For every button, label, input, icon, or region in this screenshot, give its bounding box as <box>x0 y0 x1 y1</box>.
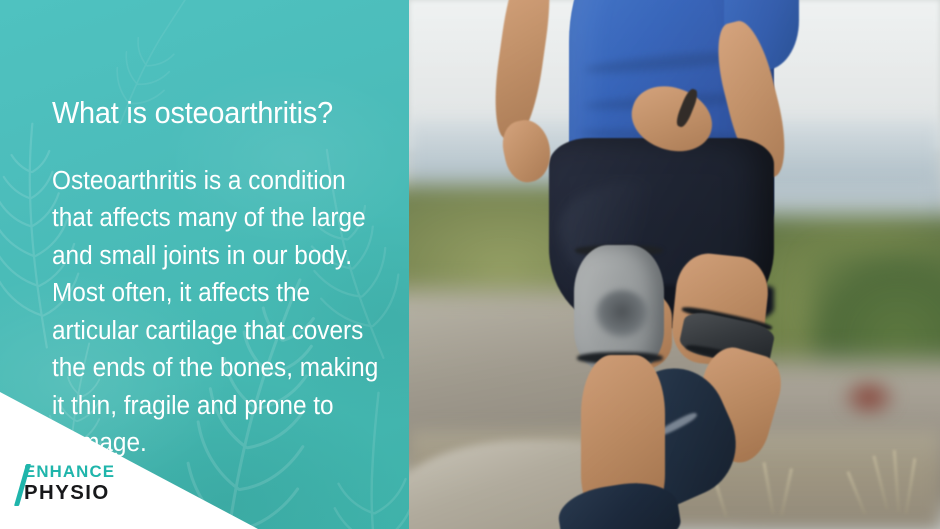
photo-vegetation-dark <box>809 250 940 430</box>
grass-tuft <box>780 468 793 516</box>
photo-rock-mid <box>409 290 719 470</box>
shorts-fold <box>550 170 682 290</box>
shorts-hem <box>624 285 774 327</box>
photo-sky <box>409 0 940 150</box>
left-teal-panel: What is osteoarthritis? Osteoarthritis i… <box>0 0 409 529</box>
body-paragraph: Osteoarthritis is a condition that affec… <box>52 163 381 463</box>
runner-right-thigh <box>669 250 772 369</box>
photo-vegetation-left <box>409 185 669 375</box>
runner-left-arm <box>488 0 558 142</box>
shirt-fold <box>584 47 765 77</box>
knee-brace-edge <box>577 352 663 364</box>
shirt-fold <box>584 90 764 112</box>
knee-brace-edge <box>575 245 663 256</box>
runner-right-hand <box>623 77 720 161</box>
runner-right-sleeve <box>724 0 799 70</box>
photo-rock-right <box>739 360 940 510</box>
runner-knee-strap <box>678 309 777 369</box>
slide-canvas: What is osteoarthritis? Osteoarthritis i… <box>0 0 940 529</box>
grass-tuft <box>713 478 728 517</box>
knee-brace-patch <box>595 290 649 338</box>
shirt-fold <box>574 159 739 182</box>
runner-left-calf <box>581 355 665 520</box>
right-shoe-sole <box>579 363 665 488</box>
shirt-fold <box>579 127 754 145</box>
page-title: What is osteoarthritis? <box>52 95 368 131</box>
right-shoe-laces <box>658 411 699 438</box>
runner-left-shoe <box>555 476 683 529</box>
runner-right-calf <box>683 341 788 468</box>
left-shoe-sole <box>558 516 679 529</box>
grass-tuft <box>893 450 900 512</box>
photo-rock-foreground <box>409 440 669 529</box>
knee-strap-edge <box>685 343 777 371</box>
runner-right-shoe <box>586 352 753 522</box>
knee-strap-edge <box>681 305 773 333</box>
runner-right-arm <box>708 16 795 183</box>
photo-red-foliage <box>839 375 899 420</box>
photo-sea-far <box>639 180 940 310</box>
logo-text-enhance: ENHANCE <box>24 464 115 481</box>
runner-shorts <box>549 138 774 328</box>
photo-sea <box>409 120 940 240</box>
runner-photo <box>409 0 940 529</box>
grass-tuft <box>872 455 888 509</box>
wrist-bracelet <box>674 87 700 129</box>
logo-text-physio: PHYSIO <box>24 483 110 503</box>
photo-vegetation-right <box>709 215 940 425</box>
photo-color-grade <box>409 0 940 529</box>
grass-tuft <box>905 458 917 514</box>
logo[interactable]: ENHANCE PHYSIO <box>14 462 194 514</box>
grass-tuft <box>763 462 775 514</box>
runner-left-thigh <box>584 290 672 370</box>
runner-shirt <box>569 0 774 240</box>
grass-tuft <box>846 471 866 515</box>
runner-left-hand <box>498 116 556 186</box>
runner-knee-brace <box>574 245 664 370</box>
photo-ground <box>409 430 940 529</box>
